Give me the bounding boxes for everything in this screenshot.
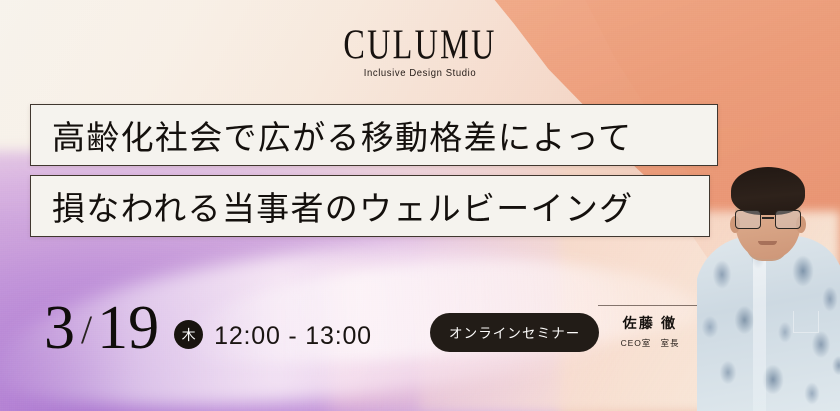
event-day: 19 — [97, 303, 159, 354]
brand-logo: CULUMU Inclusive Design Studio — [0, 23, 840, 79]
brand-tagline: Inclusive Design Studio — [0, 68, 840, 80]
photo-hair — [731, 167, 805, 215]
photo-lens-bridge — [762, 217, 774, 219]
headline-line-2: 損なわれる当事者のウェルビーイング — [30, 175, 710, 237]
format-badge: オンラインセミナー — [430, 313, 599, 352]
speaker-divider — [598, 305, 702, 306]
date-separator: / — [81, 310, 92, 350]
brand-name: CULUMU — [34, 23, 807, 66]
photo-mouth — [758, 241, 777, 245]
photo-shirt-pocket — [793, 311, 819, 333]
headline: 高齢化社会で広がる移動格差によって 損なわれる当事者のウェルビーイング — [30, 104, 718, 237]
glasses-icon — [734, 210, 802, 231]
seminar-banner: CULUMU Inclusive Design Studio 高齢化社会で広がる… — [0, 0, 840, 411]
speaker-info: 佐藤 徹 CEO室 室長 — [598, 305, 702, 349]
photo-lens-left — [735, 210, 761, 229]
photo-lens-right — [775, 210, 801, 229]
photo-shirt-placket — [753, 251, 766, 411]
headline-line-1: 高齢化社会で広がる移動格差によって — [30, 104, 718, 166]
speaker-title: CEO室 室長 — [598, 337, 702, 349]
speaker-name: 佐藤 徹 — [598, 313, 702, 333]
event-time: 12:00 - 13:00 — [214, 322, 372, 351]
event-month: 3 — [44, 303, 75, 354]
event-datetime: 3 / 19 木 12:00 - 13:00 — [44, 303, 372, 354]
speaker-photo — [697, 131, 840, 411]
day-of-week-badge: 木 — [174, 320, 203, 349]
